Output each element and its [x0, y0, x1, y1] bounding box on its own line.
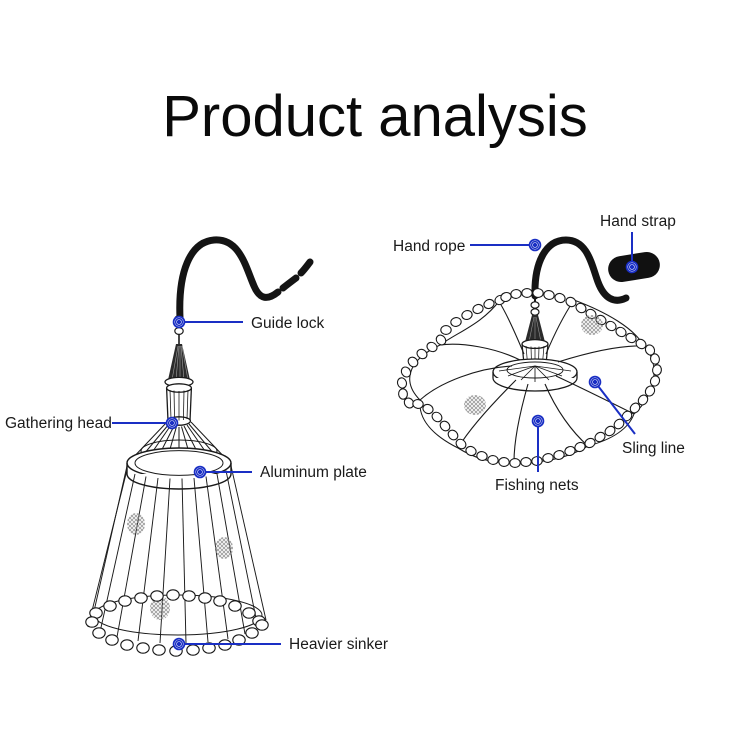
- closed-net-diagram: [86, 240, 310, 656]
- closed-net-sinker-chain-upper: [90, 590, 265, 626]
- closed-net-hand-rope: [180, 240, 310, 318]
- callout-label-hand-strap: Hand strap: [600, 214, 676, 230]
- callout-marker-hand-rope[interactable]: [534, 244, 537, 247]
- open-net-aluminum-plate: [493, 359, 577, 391]
- aluminum-plate-part: [127, 448, 231, 489]
- callout-guide-lock[interactable]: [174, 317, 243, 328]
- callout-gathering-head[interactable]: [112, 418, 177, 429]
- callout-marker-guide-lock[interactable]: [178, 321, 181, 324]
- callout-marker-gathering-head[interactable]: [171, 422, 174, 425]
- open-net-diagram: [396, 240, 662, 467]
- product-analysis-page: Product analysis: [0, 0, 750, 750]
- callout-marker-fishing-nets[interactable]: [537, 420, 540, 423]
- closed-net-sinker-chain-lower: [86, 617, 268, 656]
- callout-label-heavier-sinker: Heavier sinker: [289, 637, 388, 653]
- open-net-gathered-bundle: [525, 315, 545, 342]
- callout-label-sling-line: Sling line: [622, 441, 685, 457]
- callout-hand-rope[interactable]: [470, 240, 540, 251]
- callout-sling-line[interactable]: [590, 377, 635, 434]
- callout-marker-heavier-sinker[interactable]: [178, 643, 181, 646]
- callout-label-hand-rope: Hand rope: [393, 239, 465, 255]
- callout-hand-strap[interactable]: [627, 232, 638, 272]
- callout-marker-aluminum-plate[interactable]: [199, 471, 202, 474]
- callout-label-guide-lock: Guide lock: [251, 316, 324, 332]
- callout-label-gathering-head: Gathering head: [5, 416, 112, 432]
- callout-marker-hand-strap[interactable]: [631, 266, 634, 269]
- closed-net-gathered-bundle: [168, 344, 190, 380]
- open-net-shaft: [531, 296, 539, 315]
- callout-marker-sling-line[interactable]: [594, 381, 597, 384]
- closed-net-cone-lines: [88, 466, 266, 644]
- callout-label-fishing-nets: Fishing nets: [495, 478, 579, 494]
- callout-label-aluminum-plate: Aluminum plate: [260, 465, 367, 481]
